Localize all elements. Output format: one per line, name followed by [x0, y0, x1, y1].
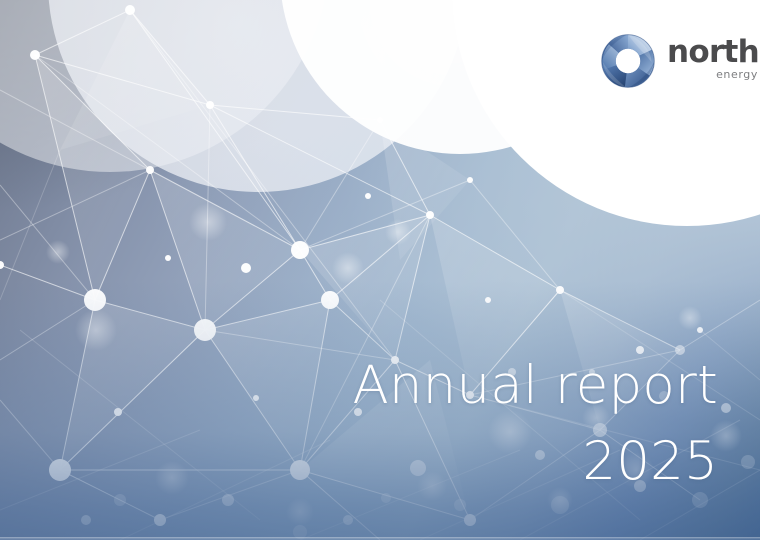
report-cover: north energy Annual report 2025: [0, 0, 760, 540]
brand-name: north: [667, 37, 759, 68]
brand-tagline: energy: [716, 69, 758, 80]
cover-title: Annual report: [352, 348, 718, 424]
brand-wordmark: north energy: [667, 33, 759, 89]
cover-year: 2025: [352, 424, 718, 500]
aperture-iris-icon: [600, 33, 656, 89]
cover-title-block: Annual report 2025: [352, 348, 718, 501]
brand-logo: north energy: [600, 33, 759, 89]
